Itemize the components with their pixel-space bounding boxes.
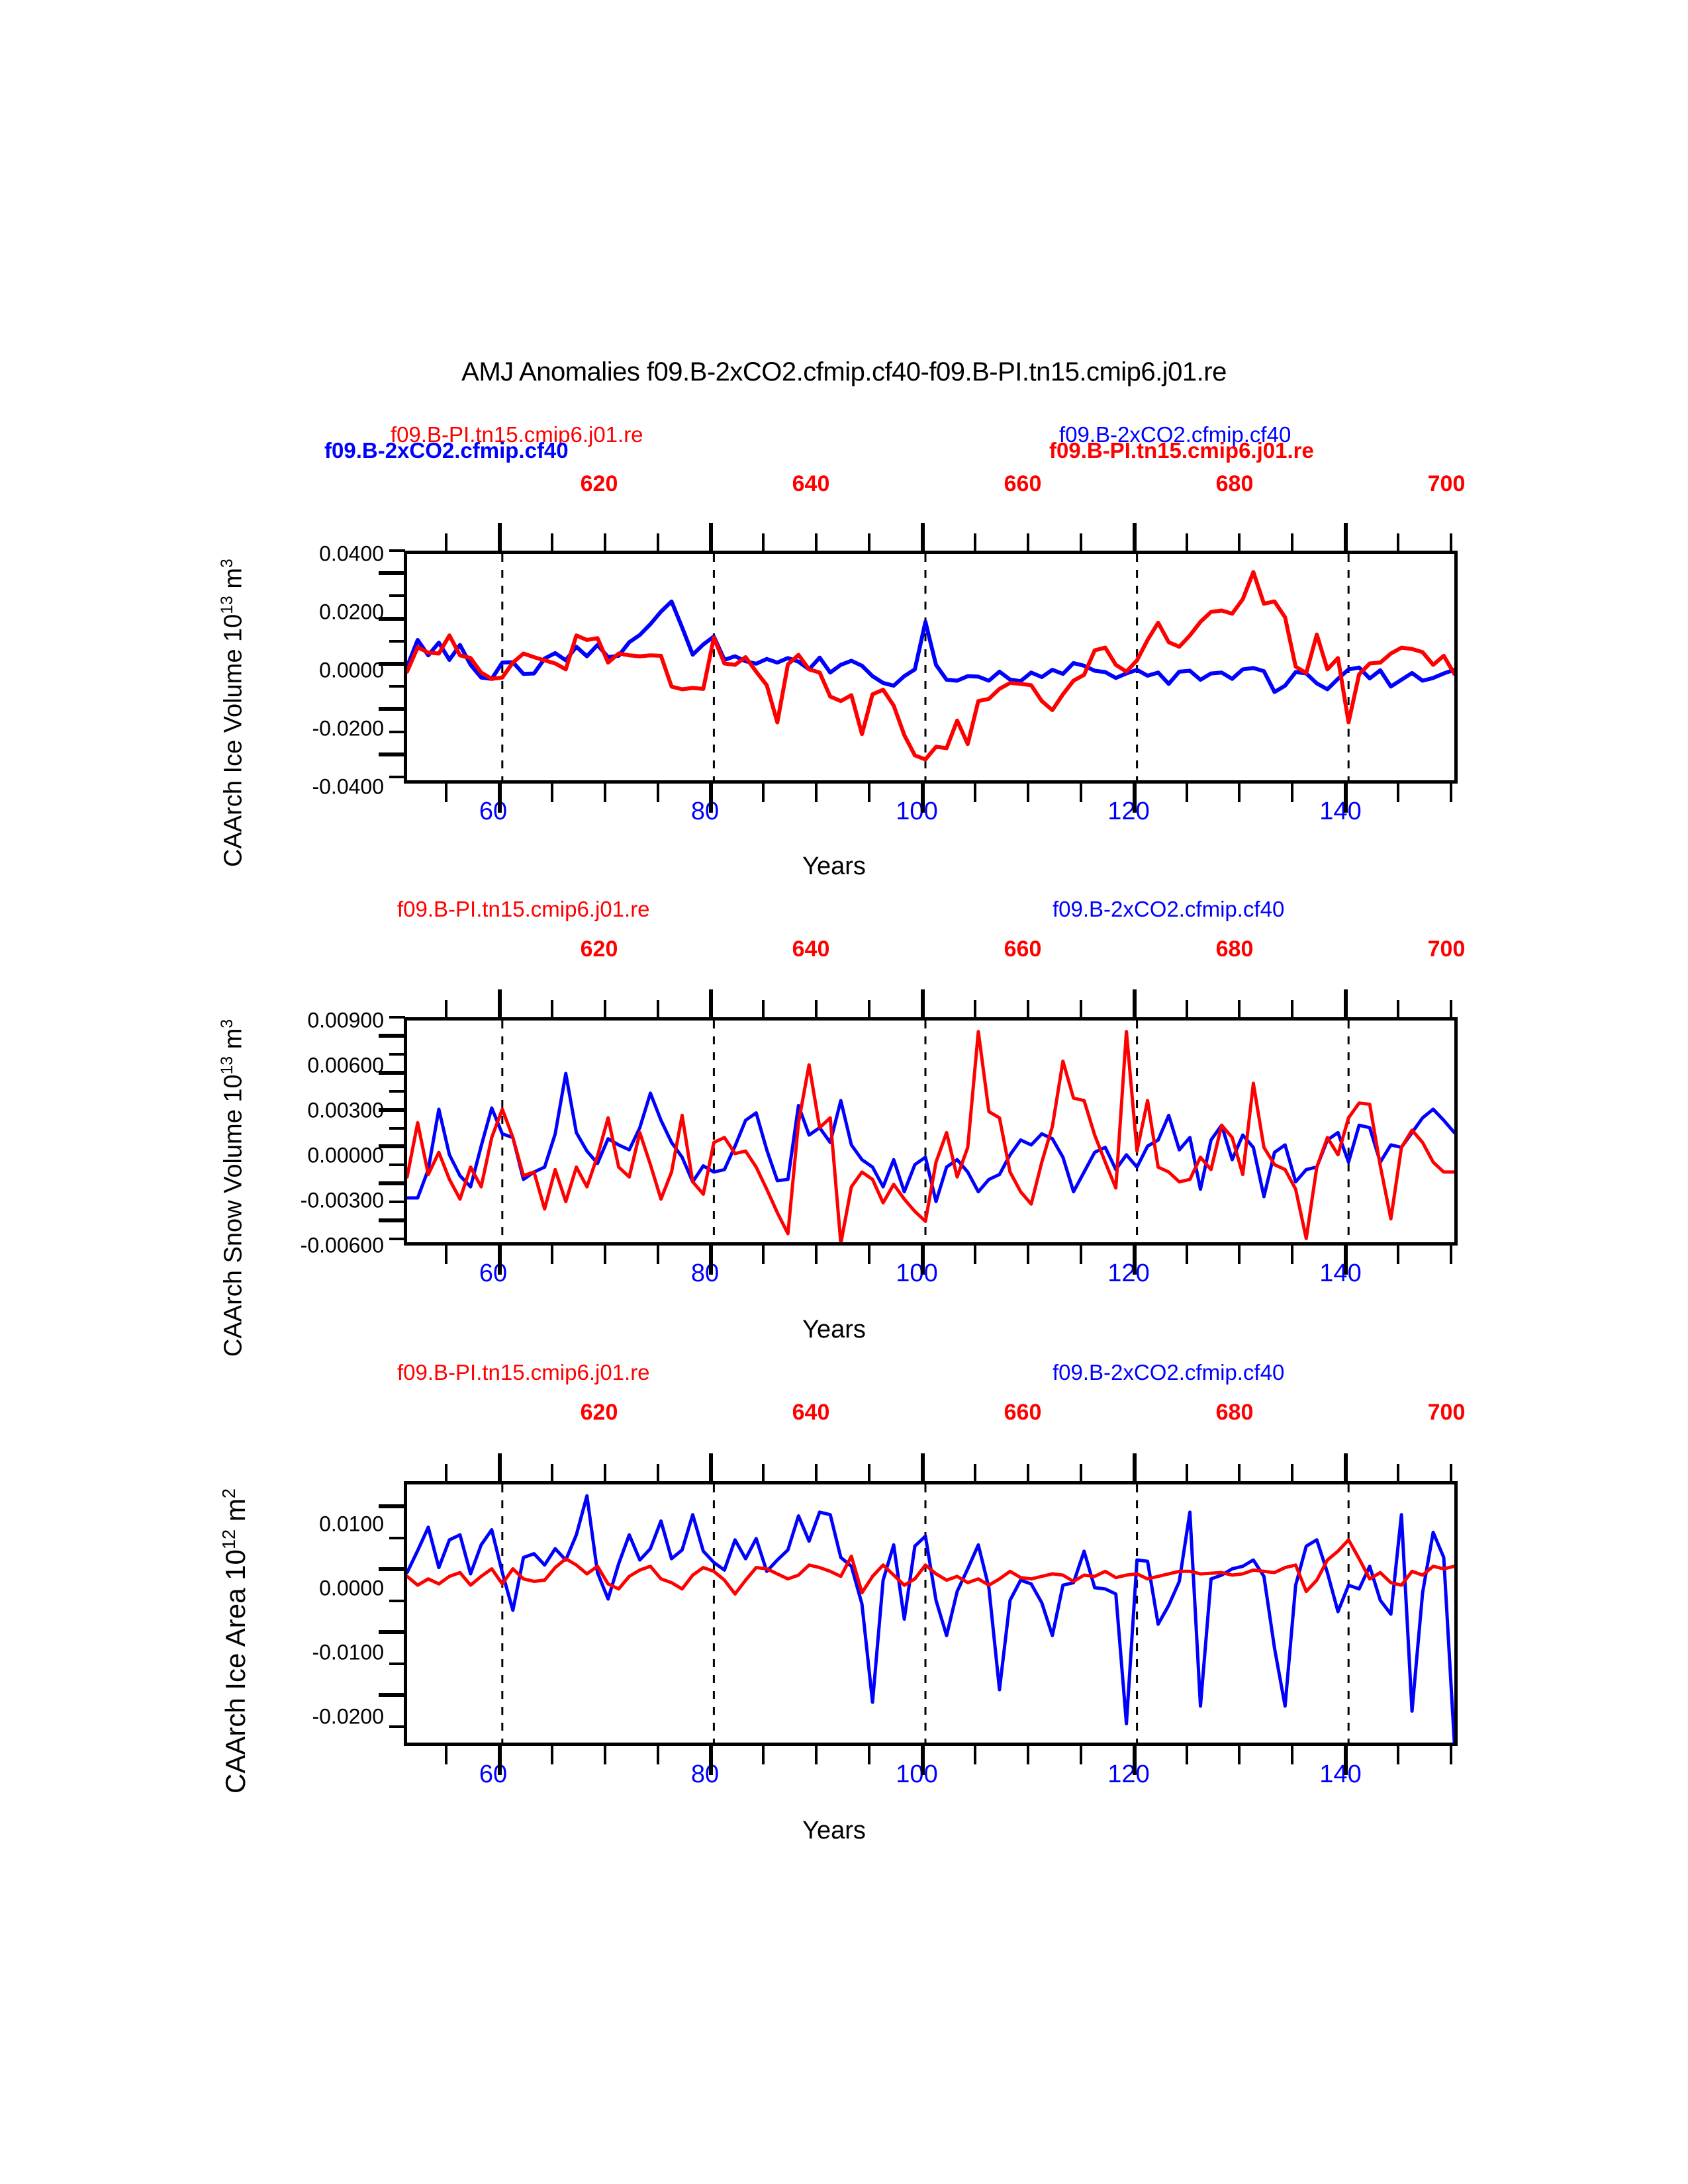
xtick-top-minor (762, 1464, 765, 1482)
ytick-major (379, 1144, 405, 1148)
xtick-bottom-major (498, 784, 502, 813)
xtick-top-minor (604, 1464, 606, 1482)
xtick-bottom-minor (1238, 1246, 1241, 1264)
xtick-top-minor (551, 1464, 553, 1482)
chart-svg-1 (407, 1021, 1454, 1242)
xtick-top-minor (1397, 1000, 1399, 1019)
xtick-top-minor (868, 533, 870, 552)
xtick-top-minor (1397, 533, 1399, 552)
series-line (407, 572, 1454, 759)
chart-svg-2 (407, 1484, 1454, 1743)
xtick-bottom-major (921, 1746, 925, 1775)
xtick-bottom-minor (1291, 784, 1293, 802)
ytick-minor (389, 1127, 405, 1130)
top-tick-p3-3: 680 (1216, 1400, 1254, 1426)
ytick-minor (389, 1537, 405, 1539)
ytick-minor (389, 1016, 405, 1019)
ylab-p2-0: 0.00900 (212, 1009, 384, 1033)
ylab-p1-0: 0.0400 (245, 542, 384, 567)
ylab-p2-4: -0.00300 (212, 1189, 384, 1213)
legend-p1-right-overlay: f09.B-PI.tn15.cmip6.j01.re (1049, 438, 1314, 463)
ytick-minor (389, 1163, 405, 1166)
ytick-minor (389, 731, 405, 733)
ytick-major (379, 1108, 405, 1112)
plot-area-snow-volume (404, 1017, 1458, 1246)
xtick-bottom-minor (1450, 1746, 1452, 1764)
xtick-top-minor (1291, 1000, 1293, 1019)
xtick-bottom-minor (1080, 784, 1082, 802)
ylab-p3-2: -0.0100 (245, 1641, 384, 1665)
ytick-major (379, 1504, 405, 1508)
xtick-top-major (921, 523, 925, 552)
xtick-bottom-minor (445, 784, 447, 802)
xtick-top-minor (1186, 1000, 1188, 1019)
xtick-top-minor (815, 1464, 818, 1482)
top-tick-p2-2: 660 (1004, 936, 1042, 962)
xtick-top-minor (657, 533, 659, 552)
ytick-minor (389, 1238, 405, 1240)
xtick-bottom-minor (974, 784, 976, 802)
ylab-p3-1: 0.0000 (245, 1576, 384, 1601)
xtick-bottom-minor (604, 784, 606, 802)
xtick-top-major (921, 1453, 925, 1482)
ytick-minor (389, 685, 405, 688)
xtick-top-minor (604, 1000, 606, 1019)
xtick-top-major (709, 989, 713, 1019)
xtick-top-major (498, 523, 502, 552)
xtick-top-minor (974, 533, 976, 552)
ytick-major (379, 1630, 405, 1634)
figure-page: AMJ Anomalies f09.B-2xCO2.cfmip.cf40-f09… (0, 0, 1688, 2184)
ytick-minor (389, 776, 405, 778)
top-tick-p3-1: 640 (792, 1400, 830, 1426)
plot-area-ice-area (404, 1481, 1458, 1746)
xtick-bottom-minor (551, 1246, 553, 1264)
ylab-p2-2: 0.00300 (212, 1099, 384, 1123)
xtick-bottom-minor (1186, 784, 1188, 802)
ytick-major (379, 571, 405, 575)
xtick-top-minor (762, 1000, 765, 1019)
bottom-tick-p3-0: 60 (479, 1760, 507, 1789)
ylab-p3-0: 0.0100 (245, 1512, 384, 1537)
top-tick-p2-1: 640 (792, 936, 830, 962)
yaxis-title-p1-unit-exp: 3 (218, 559, 236, 568)
ylab-p2-3: 0.00000 (212, 1144, 384, 1168)
ytick-minor (389, 1725, 405, 1728)
xtick-top-major (1133, 523, 1137, 552)
legend-p2-right: f09.B-2xCO2.cfmip.cf40 (1053, 897, 1284, 922)
xtick-bottom-minor (604, 1246, 606, 1264)
xtick-top-minor (1080, 533, 1082, 552)
xtick-top-minor (1397, 1464, 1399, 1482)
xtick-bottom-major (1133, 784, 1137, 813)
xtick-bottom-minor (1080, 1246, 1082, 1264)
bottom-tick-p1-1: 80 (691, 797, 719, 826)
xtick-bottom-minor (1027, 1246, 1029, 1264)
top-tick-p3-4: 700 (1428, 1400, 1466, 1426)
xtick-top-major (1133, 1453, 1137, 1482)
bottom-tick-p3-3: 120 (1107, 1760, 1149, 1789)
xtick-bottom-minor (1291, 1746, 1293, 1764)
xtick-bottom-minor (445, 1746, 447, 1764)
top-tick-p1-3: 680 (1216, 471, 1254, 497)
xtick-top-minor (1027, 533, 1029, 552)
ylab-p1-2: 0.0000 (245, 659, 384, 683)
bottom-tick-p2-4: 140 (1319, 1259, 1361, 1288)
xaxis-title-p1: Years (735, 852, 933, 881)
ytick-minor (389, 1662, 405, 1665)
xtick-top-minor (1238, 1000, 1241, 1019)
xtick-bottom-minor (868, 784, 870, 802)
ytick-major (379, 1071, 405, 1075)
xtick-bottom-minor (604, 1746, 606, 1764)
xtick-bottom-major (1133, 1746, 1137, 1775)
yaxis-title-p1-exp: 13 (218, 596, 236, 614)
bottom-tick-p3-2: 100 (896, 1760, 937, 1789)
xtick-bottom-minor (1080, 1746, 1082, 1764)
bottom-tick-p1-4: 140 (1319, 797, 1361, 826)
xtick-bottom-major (709, 1746, 713, 1775)
xtick-top-major (1133, 989, 1137, 1019)
xtick-bottom-major (921, 1246, 925, 1275)
xtick-top-minor (1186, 1464, 1188, 1482)
ytick-minor (389, 1053, 405, 1056)
xtick-top-minor (551, 1000, 553, 1019)
xtick-top-minor (1238, 1464, 1241, 1482)
top-tick-p2-0: 620 (581, 936, 618, 962)
series-line (407, 1496, 1454, 1743)
bottom-tick-p1-2: 100 (896, 797, 937, 826)
ytick-major (379, 1567, 405, 1571)
ylab-p1-4: -0.0400 (245, 775, 384, 799)
ytick-major (379, 617, 405, 621)
xtick-top-minor (1291, 1464, 1293, 1482)
xtick-top-minor (1080, 1464, 1082, 1482)
ytick-minor (389, 594, 405, 597)
ytick-minor (389, 640, 405, 643)
xtick-top-minor (604, 533, 606, 552)
xtick-bottom-minor (1397, 1746, 1399, 1764)
xtick-top-minor (815, 533, 818, 552)
xtick-bottom-major (498, 1246, 502, 1275)
figure-title: AMJ Anomalies f09.B-2xCO2.cfmip.cf40-f09… (0, 357, 1688, 387)
ytick-minor (389, 1600, 405, 1602)
yaxis-title-p3-exp: 12 (218, 1529, 239, 1549)
xtick-top-minor (762, 533, 765, 552)
xtick-top-minor (1186, 533, 1188, 552)
xtick-bottom-minor (868, 1746, 870, 1764)
chart-svg-0 (407, 554, 1454, 780)
xtick-bottom-minor (657, 1246, 659, 1264)
xtick-bottom-major (1344, 784, 1348, 813)
top-tick-p1-1: 640 (792, 471, 830, 497)
xtick-top-minor (1027, 1000, 1029, 1019)
bottom-tick-p3-1: 80 (691, 1760, 719, 1789)
xtick-bottom-minor (762, 1746, 765, 1764)
xtick-top-minor (1080, 1000, 1082, 1019)
ytick-major (379, 1181, 405, 1185)
xtick-top-major (709, 523, 713, 552)
xtick-bottom-major (921, 784, 925, 813)
bottom-tick-p3-4: 140 (1319, 1760, 1361, 1789)
xtick-bottom-minor (762, 784, 765, 802)
xtick-bottom-minor (1397, 1246, 1399, 1264)
series-line (407, 602, 1454, 692)
xtick-top-major (709, 1453, 713, 1482)
xtick-bottom-major (709, 784, 713, 813)
legend-p3-right: f09.B-2xCO2.cfmip.cf40 (1053, 1360, 1284, 1385)
xtick-top-minor (974, 1464, 976, 1482)
ylab-p2-1: 0.00600 (212, 1054, 384, 1078)
xtick-bottom-minor (1397, 784, 1399, 802)
xtick-top-minor (868, 1000, 870, 1019)
yaxis-title-p1: CAArch Ice Volume 1013 m3 (218, 559, 248, 867)
xtick-bottom-minor (974, 1746, 976, 1764)
xtick-bottom-major (709, 1246, 713, 1275)
top-tick-p3-0: 620 (581, 1400, 618, 1426)
xtick-top-major (1344, 523, 1348, 552)
top-tick-p3-2: 660 (1004, 1400, 1042, 1426)
xtick-top-minor (445, 1464, 447, 1482)
xtick-top-minor (1450, 533, 1452, 552)
xtick-bottom-minor (815, 784, 818, 802)
xtick-bottom-minor (1186, 1246, 1188, 1264)
xtick-bottom-minor (657, 784, 659, 802)
legend-p3-left: f09.B-PI.tn15.cmip6.j01.re (397, 1360, 650, 1385)
xtick-top-major (498, 1453, 502, 1482)
xtick-top-minor (657, 1464, 659, 1482)
bottom-tick-p2-2: 100 (896, 1259, 937, 1288)
xtick-top-minor (1450, 1464, 1452, 1482)
xtick-top-minor (445, 533, 447, 552)
xtick-bottom-minor (762, 1246, 765, 1264)
yaxis-title-p1-text: CAArch Ice Volume 10 (220, 614, 248, 867)
ytick-major (379, 752, 405, 756)
xtick-top-minor (815, 1000, 818, 1019)
ytick-major (379, 1034, 405, 1038)
xtick-top-minor (657, 1000, 659, 1019)
xtick-bottom-minor (1450, 784, 1452, 802)
xtick-bottom-minor (657, 1746, 659, 1764)
xtick-bottom-minor (1238, 784, 1241, 802)
xtick-bottom-minor (815, 1746, 818, 1764)
bottom-tick-p2-0: 60 (479, 1259, 507, 1288)
plot-area-ice-volume (404, 551, 1458, 784)
xtick-bottom-major (1133, 1246, 1137, 1275)
ytick-major (379, 662, 405, 666)
xtick-bottom-minor (551, 784, 553, 802)
ylab-p2-5: -0.00600 (212, 1234, 384, 1258)
legend-p2-left: f09.B-PI.tn15.cmip6.j01.re (397, 897, 650, 922)
ytick-major (379, 1693, 405, 1697)
series-line (407, 1032, 1454, 1242)
xaxis-title-p2: Years (735, 1316, 933, 1344)
xtick-bottom-minor (445, 1246, 447, 1264)
xtick-top-minor (1238, 533, 1241, 552)
bottom-tick-p2-3: 120 (1107, 1259, 1149, 1288)
xtick-bottom-minor (974, 1246, 976, 1264)
xtick-top-minor (1027, 1464, 1029, 1482)
xtick-top-minor (974, 1000, 976, 1019)
ytick-major (379, 707, 405, 711)
xtick-bottom-minor (1450, 1246, 1452, 1264)
xaxis-title-p3: Years (735, 1817, 933, 1845)
top-tick-p2-4: 700 (1428, 936, 1466, 962)
xtick-bottom-minor (868, 1246, 870, 1264)
ytick-minor (389, 549, 405, 552)
legend-p1-left: f09.B-2xCO2.cfmip.cf40 (324, 438, 569, 463)
yaxis-title-p1-unit: m (220, 568, 248, 596)
top-tick-p1-4: 700 (1428, 471, 1466, 497)
xtick-bottom-minor (815, 1246, 818, 1264)
top-tick-p2-3: 680 (1216, 936, 1254, 962)
xtick-bottom-minor (1238, 1746, 1241, 1764)
top-tick-p1-0: 620 (581, 471, 618, 497)
ytick-minor (389, 1090, 405, 1093)
ytick-minor (389, 1201, 405, 1203)
xtick-top-minor (445, 1000, 447, 1019)
bottom-tick-p1-3: 120 (1107, 797, 1149, 826)
xtick-top-major (1344, 989, 1348, 1019)
xtick-top-major (498, 989, 502, 1019)
xtick-bottom-major (1344, 1246, 1348, 1275)
ytick-major (379, 1218, 405, 1222)
xtick-bottom-minor (1027, 1746, 1029, 1764)
xtick-bottom-major (1344, 1746, 1348, 1775)
xtick-bottom-minor (551, 1746, 553, 1764)
xtick-top-minor (868, 1464, 870, 1482)
xtick-top-minor (551, 533, 553, 552)
xtick-top-minor (1291, 533, 1293, 552)
ylab-p1-3: -0.0200 (245, 717, 384, 741)
bottom-tick-p2-1: 80 (691, 1259, 719, 1288)
top-tick-p1-2: 660 (1004, 471, 1042, 497)
xtick-top-minor (1450, 1000, 1452, 1019)
xtick-top-major (1344, 1453, 1348, 1482)
xtick-bottom-minor (1027, 784, 1029, 802)
bottom-tick-p1-0: 60 (479, 797, 507, 826)
xtick-bottom-minor (1291, 1246, 1293, 1264)
xtick-bottom-major (498, 1746, 502, 1775)
xtick-top-major (921, 989, 925, 1019)
yaxis-title-p3-unit-exp: 2 (218, 1488, 239, 1498)
ylab-p1-1: 0.0200 (245, 600, 384, 625)
ylab-p3-3: -0.0200 (245, 1705, 384, 1729)
xtick-bottom-minor (1186, 1746, 1188, 1764)
